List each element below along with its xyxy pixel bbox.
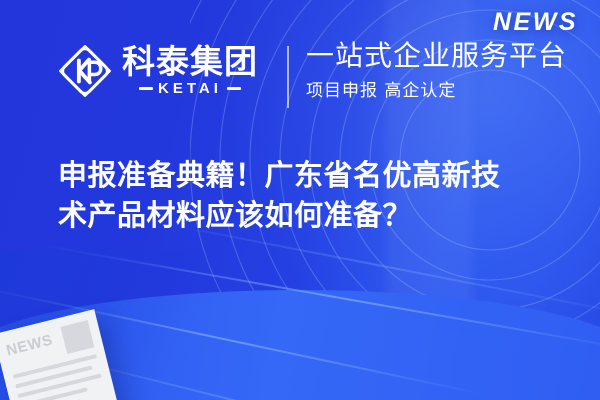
brand-logo[interactable]: 科泰集团 KETAI	[57, 43, 258, 99]
dash-left-icon	[139, 87, 153, 90]
page-title-line-1: 申报准备典籍！广东省名优高新技	[58, 155, 563, 195]
ketai-diamond-kp-logo-icon	[57, 43, 113, 99]
brand-logo-text: 科泰集团 KETAI	[122, 45, 258, 98]
header-divider	[287, 46, 289, 108]
newspaper-heading: NEWS	[5, 332, 54, 358]
news-thumbnail-block	[60, 320, 94, 354]
tagline-main: 一站式企业服务平台	[306, 40, 567, 72]
banner-header: NEWS 科泰集团 KETAI	[0, 0, 600, 133]
header-tagline: 一站式企业服务平台 项目申报 高企认定	[306, 40, 567, 101]
page-title: 申报准备典籍！广东省名优高新技 术产品材料应该如何准备？	[58, 155, 563, 235]
brand-name-en: KETAI	[158, 80, 222, 97]
brand-name-cn: 科泰集团	[122, 45, 258, 79]
brand-name-en-row: KETAI	[122, 80, 258, 97]
tagline-sub: 项目申报 高企认定	[306, 76, 567, 101]
news-badge: NEWS	[493, 8, 578, 37]
news-banner: NEWS 科泰集团 KETAI	[0, 0, 600, 400]
page-title-line-2: 术产品材料应该如何准备？	[58, 195, 563, 235]
dash-right-icon	[227, 87, 241, 90]
